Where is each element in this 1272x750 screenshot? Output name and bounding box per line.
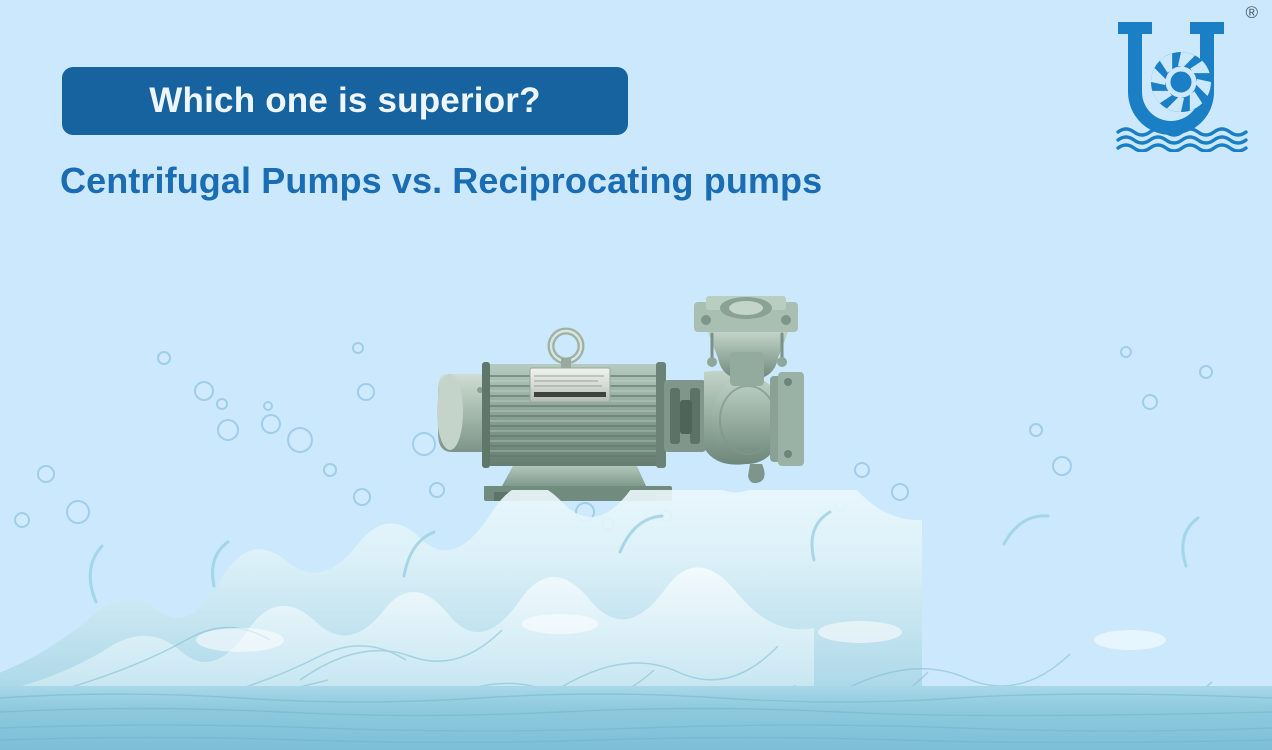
- logo-water-waves: [1118, 129, 1246, 151]
- water-droplet: [352, 342, 364, 354]
- water-droplet: [357, 383, 375, 401]
- headline-text: Which one is superior?: [149, 81, 540, 121]
- registered-trademark-icon: ®: [1245, 4, 1258, 21]
- water-droplet: [1199, 365, 1213, 379]
- pump-comparison-banner: Which one is superior? Centrifugal Pumps…: [0, 0, 1272, 750]
- water-droplet: [854, 462, 870, 478]
- water-droplet: [37, 465, 55, 483]
- water-droplet: [194, 381, 214, 401]
- water-droplet: [287, 427, 313, 453]
- water-droplet: [216, 398, 228, 410]
- water-droplet: [323, 463, 337, 477]
- coupling-bracket: [664, 380, 706, 452]
- water-droplet: [1120, 346, 1132, 358]
- u-impeller-logo: [1106, 4, 1256, 152]
- water-droplet: [263, 401, 273, 411]
- pump-nameplate: [530, 368, 610, 402]
- water-splash-scene: [0, 490, 1272, 750]
- water-droplet: [261, 414, 281, 434]
- motor-rear-cap: [437, 374, 488, 452]
- water-droplet: [1142, 394, 1158, 410]
- subtitle-text: Centrifugal Pumps vs. Reciprocating pump…: [60, 160, 822, 202]
- water-droplet: [157, 351, 171, 365]
- water-droplet: [1029, 423, 1043, 437]
- water-surface: [0, 686, 1272, 750]
- lifting-eye-bolt: [551, 331, 581, 368]
- headline-badge: Which one is superior?: [62, 67, 628, 135]
- water-droplet: [1052, 456, 1072, 476]
- suction-flange: [770, 372, 804, 466]
- water-droplet: [217, 419, 239, 441]
